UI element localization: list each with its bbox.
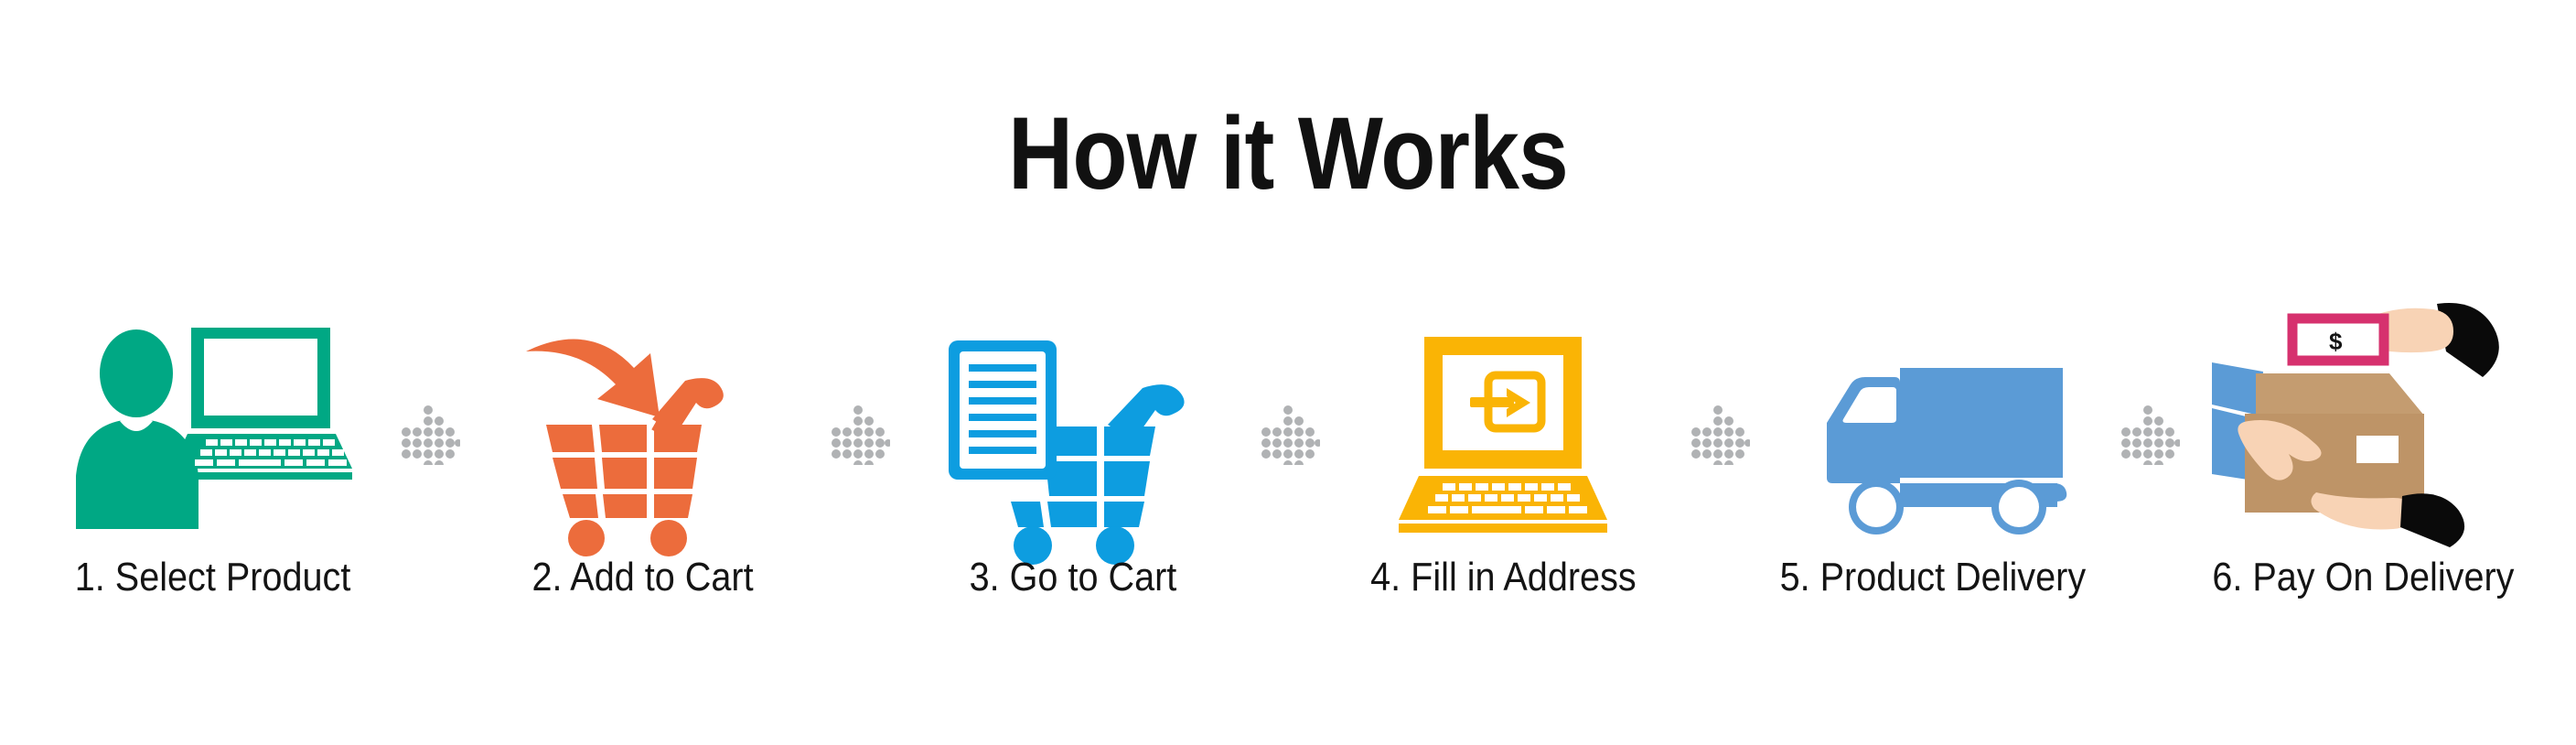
step-3-go-to-cart[interactable]: 3. Go to Cart [897,302,1249,632]
banknote-symbol: $ [2329,328,2343,355]
step-5-product-delivery[interactable]: 5. Product Delivery [1757,302,2109,632]
shipping-label [2356,436,2399,463]
cart-with-arrow-icon [467,302,819,549]
laptop-with-login-arrow-icon [1327,302,1679,549]
step-label: 6. Pay On Delivery [2212,555,2514,600]
step-6-pay-on-delivery[interactable]: $ [2187,302,2538,632]
step-2-add-to-cart[interactable]: 2. Add to Cart [467,302,819,632]
sleeve-lower [2400,493,2464,547]
step-label: 2. Add to Cart [532,555,754,600]
page-title: How it Works [155,103,2421,205]
step-label: 4. Fill in Address [1370,555,1637,600]
step-label: 1. Select Product [75,555,351,600]
step-1-select-product[interactable]: 1. Select Product [38,302,389,632]
hands-exchanging-box-and-cash-icon: $ [2187,302,2538,549]
delivery-truck-icon [1757,302,2109,549]
box-lid [2256,373,2424,416]
dotted-right-arrow-icon [1679,302,1757,632]
dotted-right-arrow-icon [1249,302,1327,632]
steps-container: 1. Select Product [0,302,2576,632]
step-4-fill-in-address[interactable]: 4. Fill in Address [1327,302,1679,632]
step-label: 3. Go to Cart [970,555,1177,600]
banknote: $ [2292,319,2384,361]
infographic-root: How it Works [0,0,2576,745]
sleeve-left-upper [2212,362,2263,416]
dotted-right-arrow-icon [819,302,897,632]
dotted-right-arrow-icon [2109,302,2187,632]
person-with-laptop-icon [38,302,389,549]
cart-with-document-icon [897,302,1249,549]
dotted-right-arrow-icon [389,302,467,632]
step-label: 5. Product Delivery [1780,555,2087,600]
